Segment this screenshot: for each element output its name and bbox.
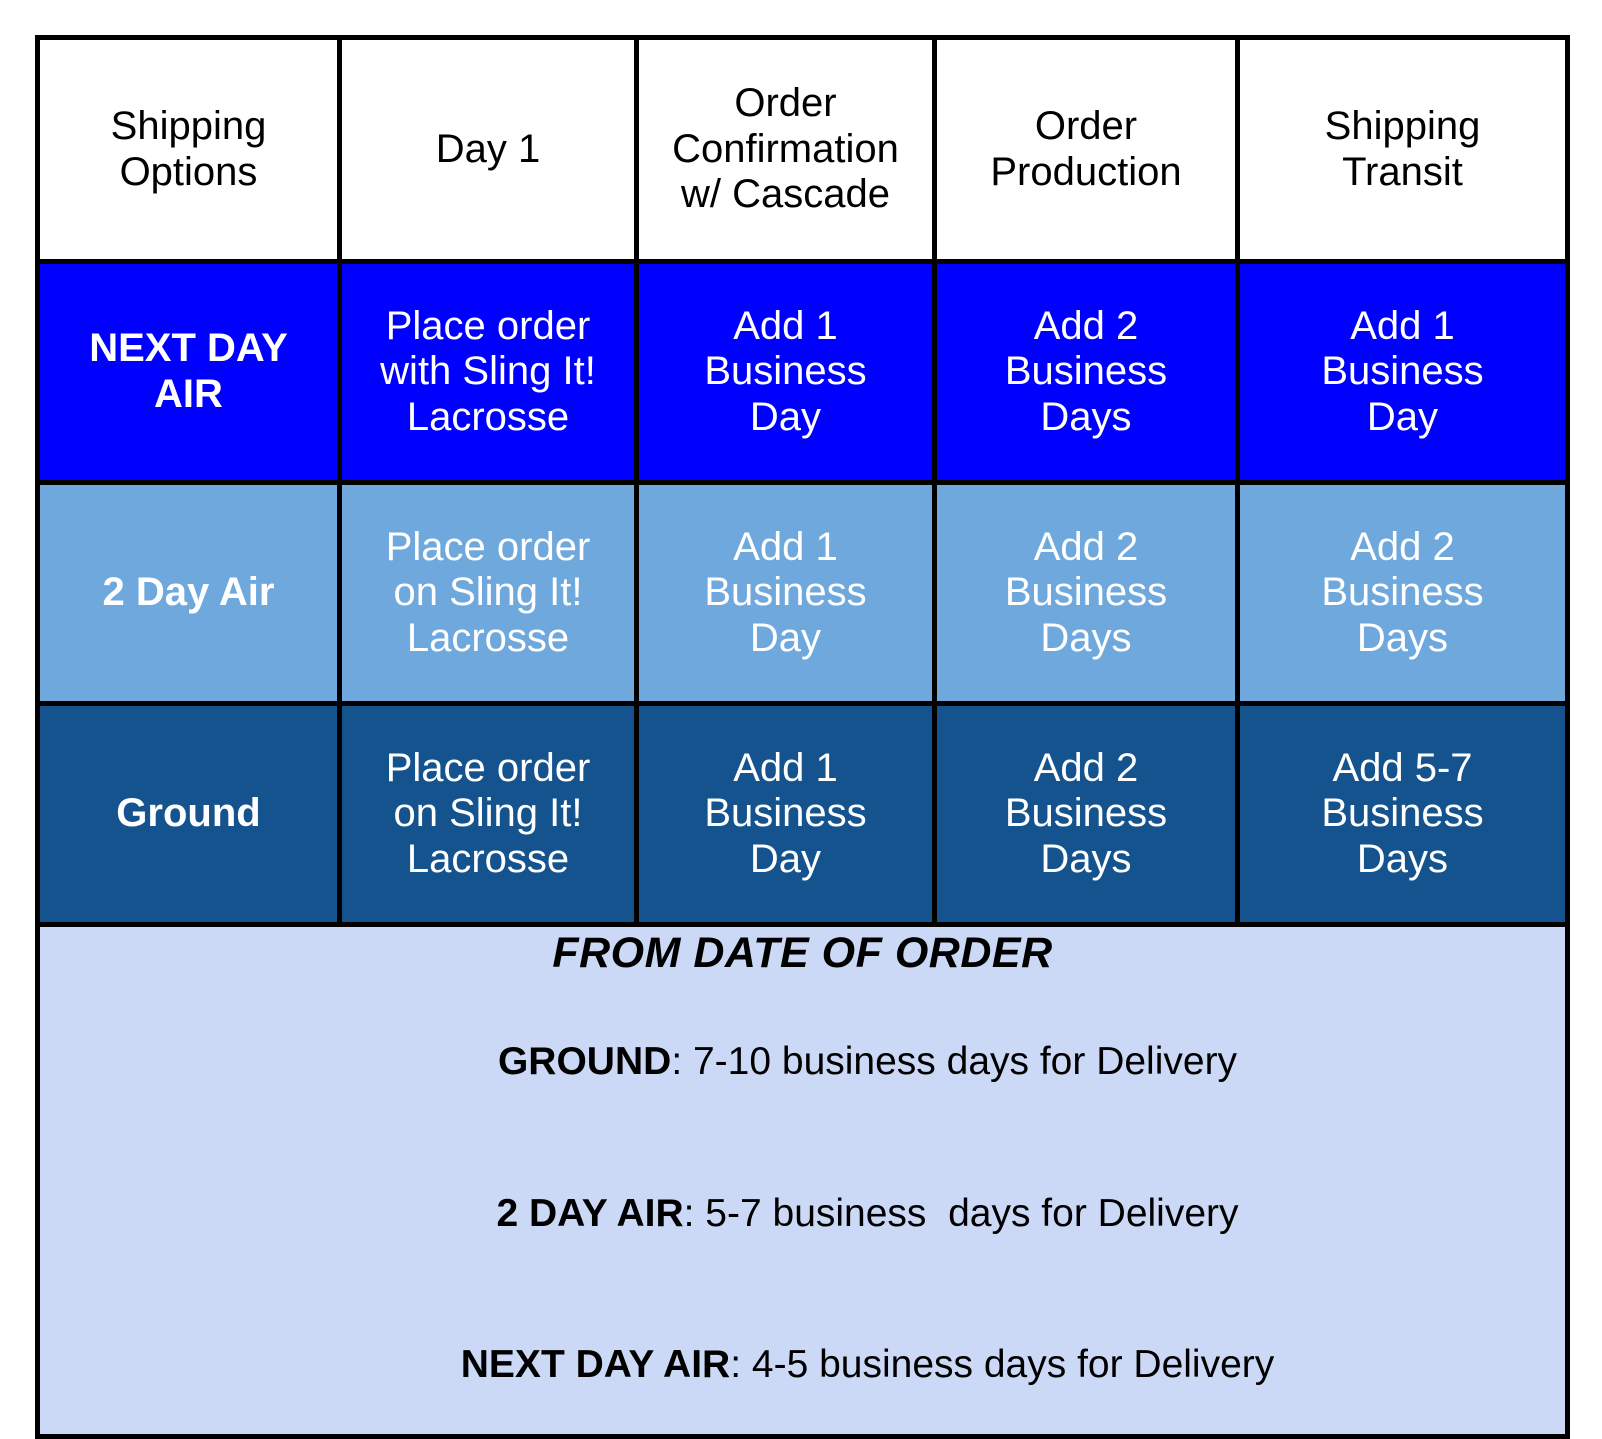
cell-2-day-air-shipping-transit: Add 2 Business Days xyxy=(1238,483,1568,704)
footer-line-ground-text: : 7-10 business days for Delivery xyxy=(671,1040,1237,1083)
footer-line-2-day-air-text: : 5-7 business days for Delivery xyxy=(684,1192,1239,1235)
footer-line-next-day-air-text: : 4-5 business days for Delivery xyxy=(730,1343,1274,1386)
cell-2-day-air-order-production: Add 2 Business Days xyxy=(935,483,1238,704)
footer-line-next-day-air: NEXT DAY AIR: 4-5 business days for Deli… xyxy=(331,1299,1275,1432)
footer-line-2-day-air-label: 2 DAY AIR xyxy=(496,1192,683,1235)
table-row-2-day-air: 2 Day Air Place order on Sling It! Lacro… xyxy=(38,483,1568,704)
footer-line-2-day-air: 2 DAY AIR: 5-7 business days for Deliver… xyxy=(366,1147,1238,1280)
column-header-order-confirmation: Order Confirmation w/ Cascade xyxy=(637,38,935,262)
delivery-summary-cell: FROM DATE OF ORDER GROUND: 7-10 business… xyxy=(38,925,1568,1437)
cell-ground-day-1: Place order on Sling It! Lacrosse xyxy=(340,704,637,925)
footer-line-ground: GROUND: 7-10 business days for Delivery xyxy=(368,996,1237,1129)
cell-next-day-air-day-1: Place order with Sling It! Lacrosse xyxy=(340,262,637,483)
cell-ground-shipping-transit: Add 5-7 Business Days xyxy=(1238,704,1568,925)
cell-next-day-air-order-production: Add 2 Business Days xyxy=(935,262,1238,483)
cell-next-day-air-order-confirmation: Add 1 Business Day xyxy=(637,262,935,483)
table-row-next-day-air: NEXT DAY AIR Place order with Sling It! … xyxy=(38,262,1568,483)
table-header-row: Shipping Options Day 1 Order Confirmatio… xyxy=(38,38,1568,262)
row-label-next-day-air: NEXT DAY AIR xyxy=(38,262,340,483)
footer-title: FROM DATE OF ORDER xyxy=(552,929,1052,978)
column-header-day-1: Day 1 xyxy=(340,38,637,262)
cell-2-day-air-order-confirmation: Add 1 Business Day xyxy=(637,483,935,704)
column-header-shipping-options: Shipping Options xyxy=(38,38,340,262)
column-header-shipping-transit: Shipping Transit xyxy=(1238,38,1568,262)
footer-line-next-day-air-label: NEXT DAY AIR xyxy=(461,1343,730,1386)
table-row-ground: Ground Place order on Sling It! Lacrosse… xyxy=(38,704,1568,925)
footer-line-ground-label: GROUND xyxy=(498,1040,671,1083)
cell-next-day-air-shipping-transit: Add 1 Business Day xyxy=(1238,262,1568,483)
shipping-options-table: Shipping Options Day 1 Order Confirmatio… xyxy=(35,35,1570,1439)
cell-ground-order-production: Add 2 Business Days xyxy=(935,704,1238,925)
table-footer-row: FROM DATE OF ORDER GROUND: 7-10 business… xyxy=(38,925,1568,1437)
row-label-ground: Ground xyxy=(38,704,340,925)
cell-2-day-air-day-1: Place order on Sling It! Lacrosse xyxy=(340,483,637,704)
cell-ground-order-confirmation: Add 1 Business Day xyxy=(637,704,935,925)
row-label-2-day-air: 2 Day Air xyxy=(38,483,340,704)
column-header-order-production: Order Production xyxy=(935,38,1238,262)
